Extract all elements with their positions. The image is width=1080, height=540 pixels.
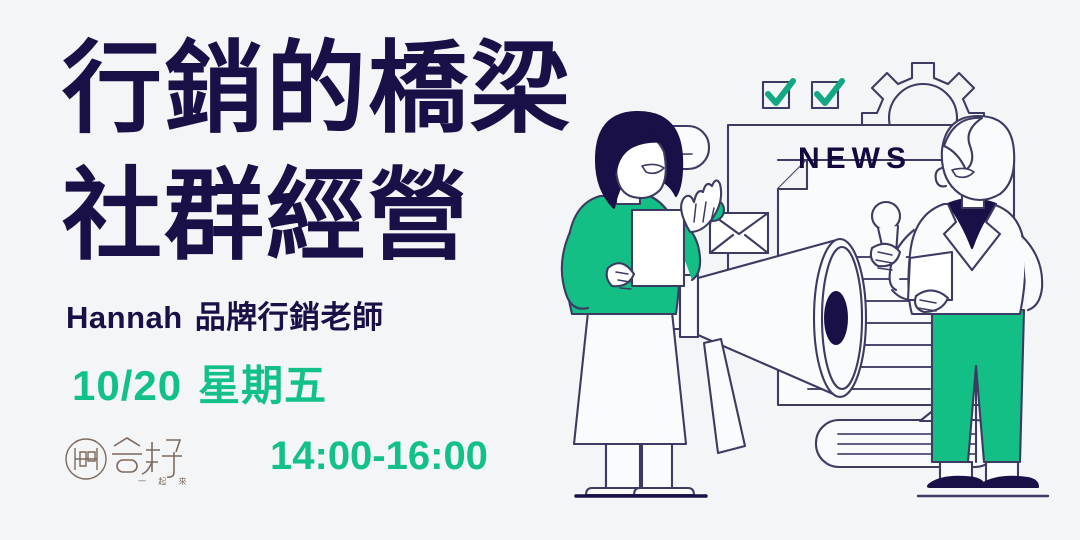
event-date-row: 10/20星期五 — [72, 352, 327, 413]
event-weekday: 星期五 — [198, 362, 327, 409]
presenter-name: Hannah — [66, 300, 183, 335]
page-title-line2: 社群經營 — [62, 155, 470, 277]
brand-logo: 一 起 來 — [62, 432, 207, 494]
text-content: 行銷的橋梁 社群經營 Hannah品牌行銷老師 10/20星期五 14:00-1… — [0, 0, 640, 540]
checkbox-icon-2 — [812, 81, 842, 108]
checkbox-icon-1 — [763, 81, 793, 108]
logo-tagline: 一 起 來 — [138, 476, 191, 487]
news-label: NEWS — [798, 142, 912, 176]
event-date: 10/20 — [72, 362, 182, 409]
presenter-title: 品牌行銷老師 — [195, 300, 384, 335]
page-title-line1: 行銷的橋梁 — [62, 28, 572, 150]
presenter-line: Hannah品牌行銷老師 — [66, 292, 384, 337]
event-time: 14:00-16:00 — [270, 434, 488, 479]
promo-banner: NEWS 行銷的橋梁 社群經營 Hannah品牌行銷老師 10/20星期五 14… — [0, 0, 1080, 540]
